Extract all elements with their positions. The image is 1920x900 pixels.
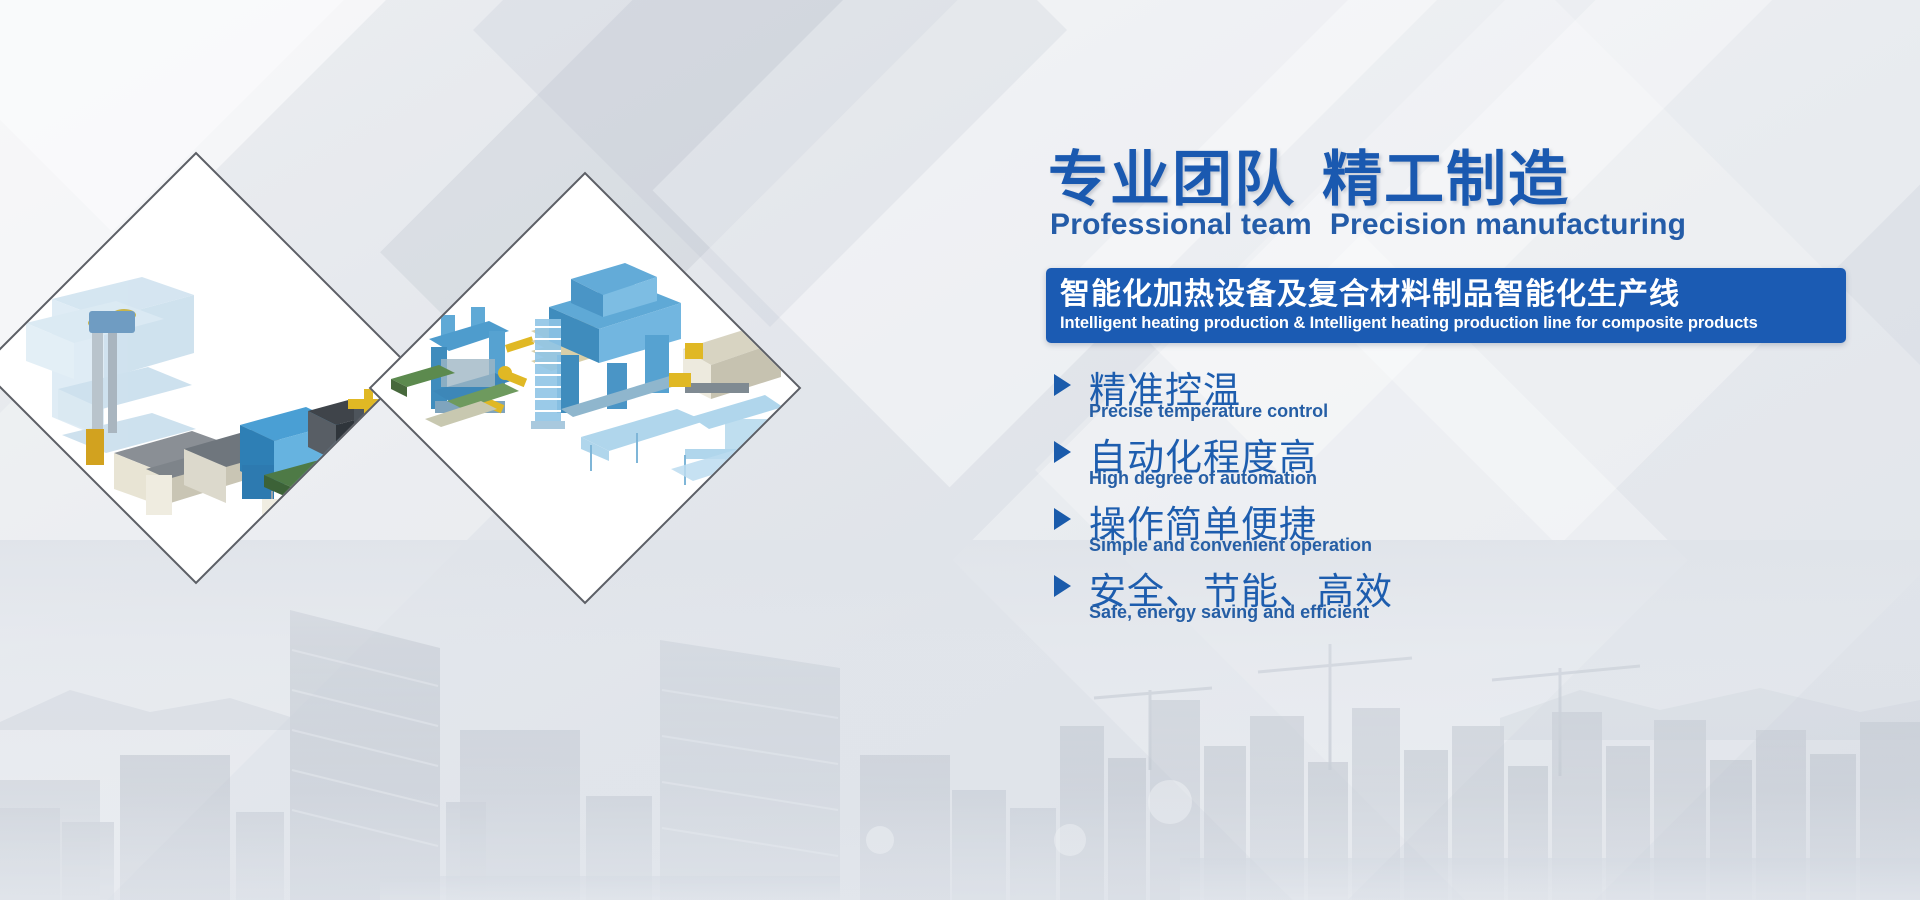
headline-en-part2: Precision manufacturing <box>1330 208 1686 241</box>
feature-label-english: High degree of automation <box>1089 468 1317 489</box>
feature-item: 操作简单便捷 Simple and convenient operation <box>1040 494 1660 561</box>
product-title-banner: 智能化加热设备及复合材料制品智能化生产线 Intelligent heating… <box>1046 268 1846 343</box>
feature-item: 精准控温 Precise temperature control <box>1040 360 1660 427</box>
promotional-banner: 专业团队精工制造 Professional teamPrecision manu… <box>0 0 1920 900</box>
headline-en-part1: Professional team <box>1050 208 1312 241</box>
bullet-triangle-icon <box>1054 508 1071 530</box>
headline-cn-part1: 专业团队 <box>1048 146 1296 213</box>
headline-chinese: 专业团队精工制造 <box>1048 148 1570 211</box>
product-image-right <box>370 173 800 603</box>
feature-list: 精准控温 Precise temperature control 自动化程度高 … <box>1040 360 1660 628</box>
bullet-triangle-icon <box>1054 575 1071 597</box>
feature-label-english: Safe, energy saving and efficient <box>1089 602 1369 623</box>
feature-item: 安全、节能、高效 Safe, energy saving and efficie… <box>1040 561 1660 628</box>
product-image-left <box>0 153 411 583</box>
bullet-triangle-icon <box>1054 441 1071 463</box>
headline-english: Professional teamPrecision manufacturing <box>1050 208 1686 242</box>
product-title-chinese: 智能化加热设备及复合材料制品智能化生产线 <box>1060 277 1834 312</box>
feature-item: 自动化程度高 High degree of automation <box>1040 427 1660 494</box>
diamond-frame-left <box>0 152 412 585</box>
text-content-column: 专业团队精工制造 Professional teamPrecision manu… <box>1040 0 1920 900</box>
feature-label-english: Precise temperature control <box>1089 401 1328 422</box>
bullet-triangle-icon <box>1054 374 1071 396</box>
headline-cn-part2: 精工制造 <box>1322 146 1570 213</box>
feature-label-english: Simple and convenient operation <box>1089 535 1372 556</box>
product-title-english: Intelligent heating production & Intelli… <box>1060 314 1834 333</box>
